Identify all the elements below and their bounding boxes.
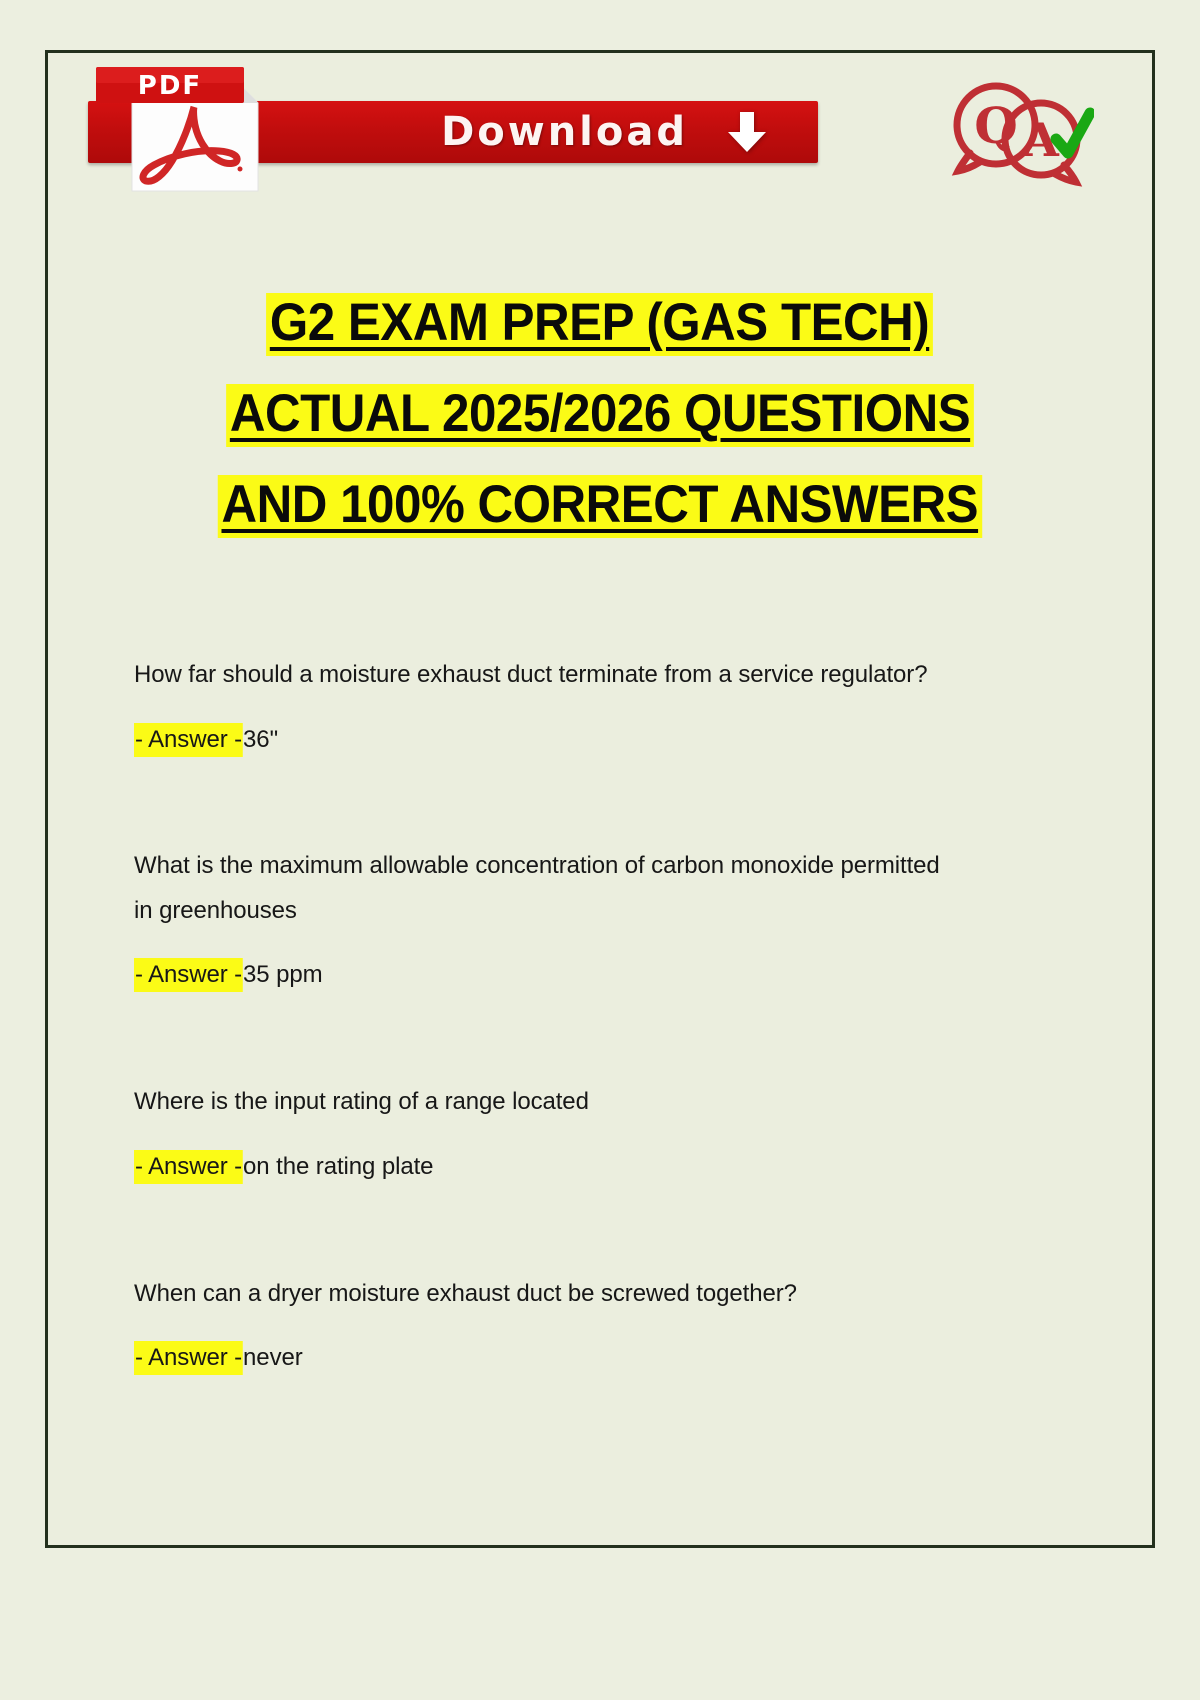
question-text: Where is the input rating of a range loc… [134,1080,947,1125]
answer-line: - Answer -never [134,1340,1006,1377]
answer-value: on the rating plate [243,1150,433,1184]
title-line-3: AND 100% CORRECT ANSWERS [48,475,1152,538]
answer-label: - Answer - [134,723,243,757]
answer-line: - Answer -on the rating plate [134,1149,1006,1186]
question-text: How far should a moisture exhaust duct t… [134,653,947,698]
download-button-label: Download [441,112,688,152]
title-line-2: ACTUAL 2025/2026 QUESTIONS [48,384,1152,447]
document-page: Download PDF Q [45,50,1155,1548]
title-line-1-text: G2 EXAM PREP (GAS TECH) [267,293,934,356]
qa-item: What is the maximum allowable concentrat… [134,844,1024,994]
answer-value: never [243,1341,303,1375]
answer-value: 35 ppm [243,958,323,992]
page-title: G2 EXAM PREP (GAS TECH) ACTUAL 2025/2026… [48,293,1152,566]
title-line-3-text: AND 100% CORRECT ANSWERS [218,475,982,538]
document-header: Download PDF Q [48,53,1152,203]
title-line-2-text: ACTUAL 2025/2026 QUESTIONS [226,384,974,447]
pdf-file-icon: PDF [86,61,276,196]
qa-item: Where is the input rating of a range loc… [134,1080,1024,1185]
answer-line: - Answer -35 ppm [134,957,1006,994]
answer-label: - Answer - [134,1341,243,1375]
answer-value: 36" [243,723,278,757]
svg-text:PDF: PDF [138,71,202,101]
qa-item: How far should a moisture exhaust duct t… [134,653,1024,758]
qa-item: When can a dryer moisture exhaust duct b… [134,1272,1024,1377]
qa-list: How far should a moisture exhaust duct t… [134,653,1024,1377]
question-text: When can a dryer moisture exhaust duct b… [134,1272,947,1317]
arrow-down-icon [724,110,770,154]
answer-label: - Answer - [134,958,243,992]
answer-line: - Answer -36" [134,722,1006,759]
title-line-1: G2 EXAM PREP (GAS TECH) [48,293,1152,356]
question-text: What is the maximum allowable concentrat… [134,844,947,933]
qa-logo: Q A [944,73,1094,193]
answer-label: - Answer - [134,1150,243,1184]
